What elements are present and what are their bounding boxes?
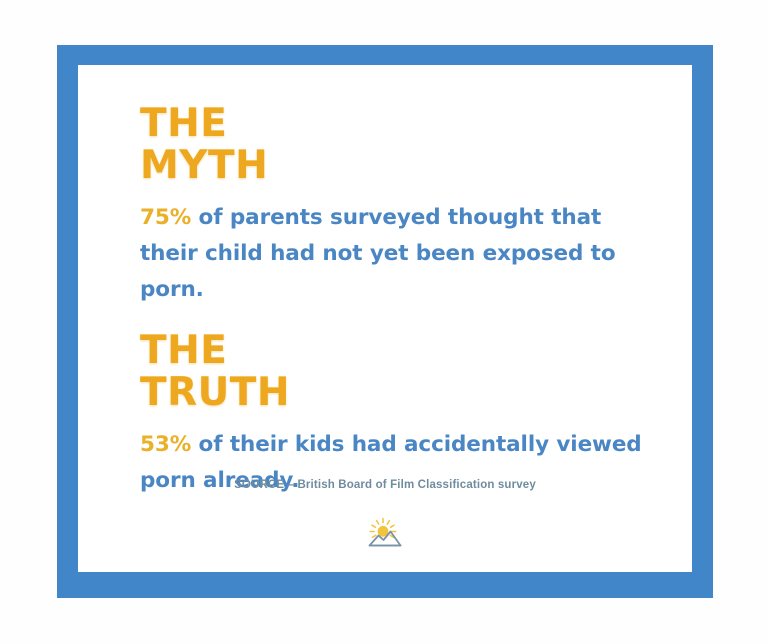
poster-canvas: THE MYTH 75% of parents surveyed thought… bbox=[0, 0, 768, 644]
myth-stat-value: 75% bbox=[140, 205, 191, 230]
myth-headline-line-1: THE bbox=[140, 103, 662, 145]
logo-container bbox=[78, 517, 692, 547]
poster-blue-frame: THE MYTH 75% of parents surveyed thought… bbox=[57, 45, 713, 598]
truth-headline-line-2: TRUTH bbox=[140, 372, 662, 414]
truth-headline-line-1: THE bbox=[140, 330, 662, 372]
sun-over-mountains-logo-icon bbox=[368, 517, 402, 547]
myth-headline: THE MYTH bbox=[140, 103, 662, 187]
myth-headline-line-2: MYTH bbox=[140, 145, 662, 187]
truth-headline: THE TRUTH bbox=[140, 330, 662, 414]
myth-statement-text: of parents surveyed thought that their c… bbox=[140, 205, 616, 302]
poster-white-panel: THE MYTH 75% of parents surveyed thought… bbox=[78, 65, 692, 572]
myth-statement: 75% of parents surveyed thought that the… bbox=[140, 200, 662, 308]
truth-stat-value: 53% bbox=[140, 432, 191, 457]
source-attribution: SOURCE – British Board of Film Classific… bbox=[78, 479, 692, 491]
poster-content: THE MYTH 75% of parents surveyed thought… bbox=[140, 103, 662, 520]
